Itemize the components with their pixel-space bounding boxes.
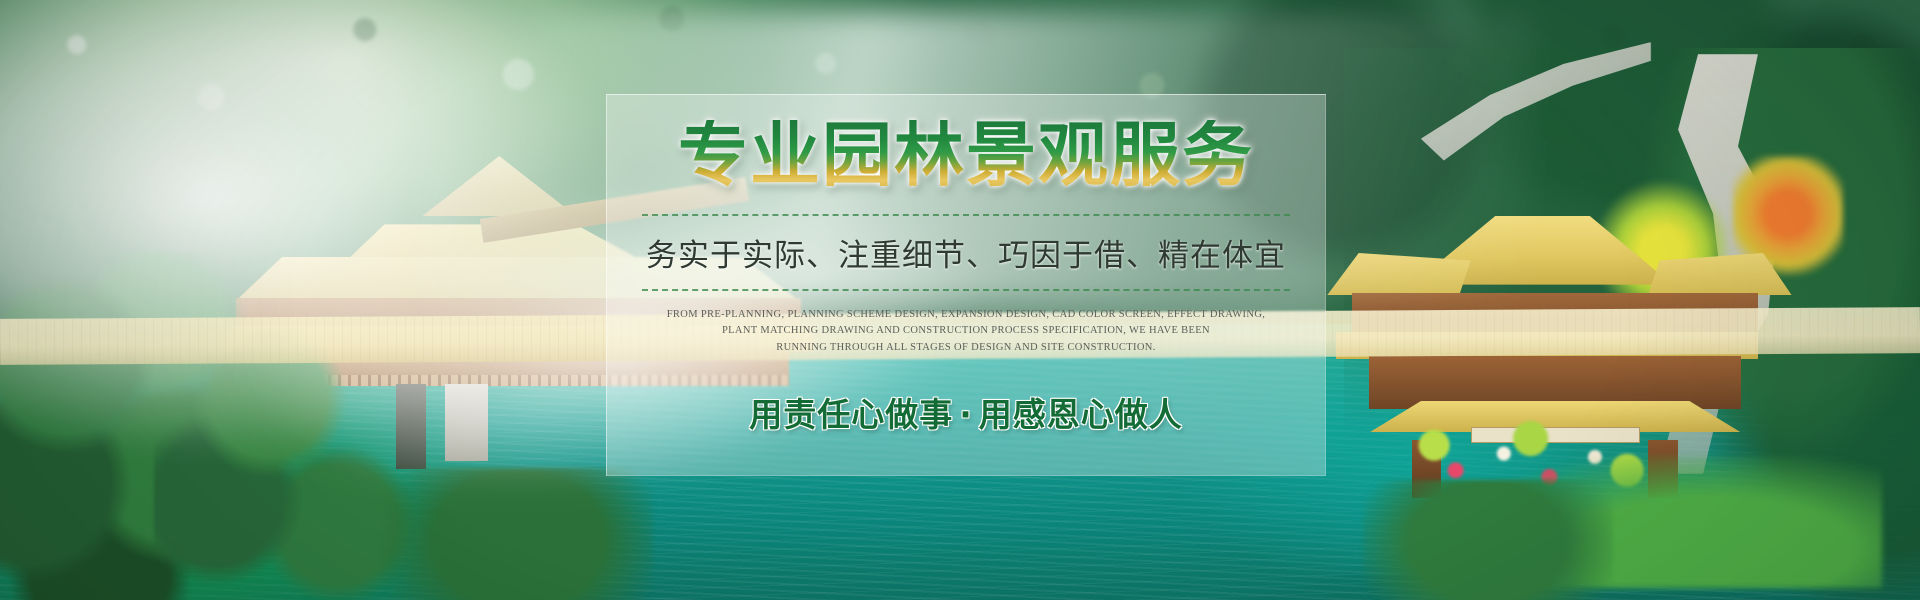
english-line-3: RUNNING THROUGH ALL STAGES OF DESIGN AND…: [667, 340, 1266, 356]
banner-content: 专业园林景观服务 务实于实际、注重细节、巧因于借、精在体宜 FROM PRE-P…: [606, 94, 1326, 476]
slogan-right: 用感恩心做人: [979, 395, 1183, 434]
slogan-separator-icon: ·: [953, 395, 979, 434]
landscape-service-banner: 专业园林景观服务 务实于实际、注重细节、巧因于借、精在体宜 FROM PRE-P…: [0, 0, 1920, 600]
slogan-left: 用责任心做事: [749, 395, 953, 434]
page-title: 专业园林景观服务: [678, 120, 1254, 190]
english-line-2: PLANT MATCHING DRAWING AND CONSTRUCTION …: [667, 323, 1266, 339]
company-slogan: 用责任心做事·用感恩心做人: [749, 388, 1183, 436]
foreground-tree-right: [1363, 480, 1613, 600]
english-line-1: FROM PRE-PLANNING, PLANNING SCHEME DESIG…: [667, 307, 1266, 323]
english-description: FROM PRE-PLANNING, PLANNING SCHEME DESIG…: [667, 307, 1266, 356]
subtitle: 务实于实际、注重细节、巧因于借、精在体宜: [646, 230, 1286, 275]
divider-dashed-top: [642, 214, 1290, 216]
pavilion-body: [1369, 356, 1741, 409]
divider-dashed-bottom: [642, 289, 1290, 291]
